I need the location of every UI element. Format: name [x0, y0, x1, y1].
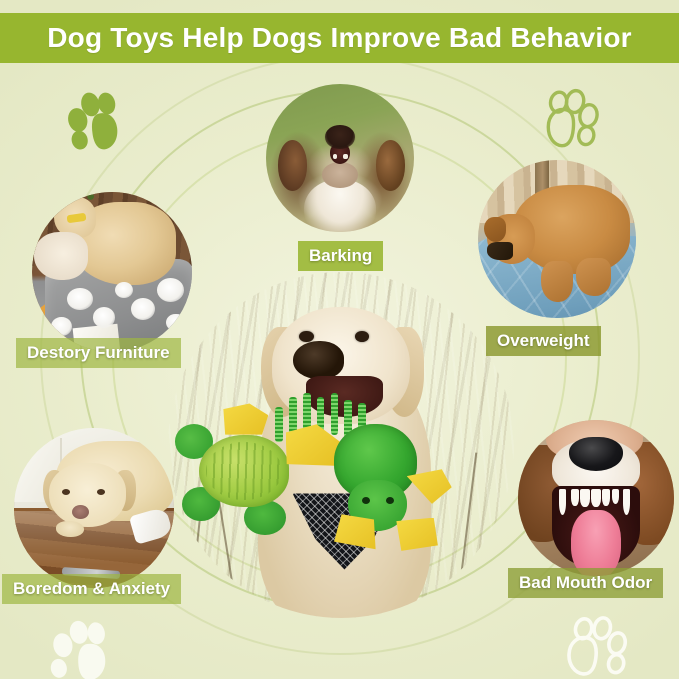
dog-tooth: [591, 489, 600, 508]
bored-labrador-photo: [14, 428, 174, 588]
barking-dog-photo: [266, 84, 414, 232]
paw-print-icon-top-left: [62, 84, 126, 154]
photo-circle-boredom-anxiety: [14, 428, 174, 588]
dog-ear-right: [376, 140, 406, 190]
turtle-toy-rope-coil: [331, 393, 339, 435]
title-banner: Dog Toys Help Dogs Improve Bad Behavior: [0, 13, 679, 63]
stuffing-fluff: [67, 288, 93, 310]
badge-label: Overweight: [497, 331, 590, 351]
badge-label: Destory Furniture: [27, 343, 170, 363]
destroyed-cushion-photo: [32, 192, 192, 352]
badge-barking: Barking: [298, 241, 383, 271]
dog-tooth: [343, 154, 348, 159]
dog-paw: [56, 521, 85, 537]
stuffing-fluff: [93, 307, 115, 328]
dog-ear: [484, 217, 506, 242]
badge-label: Boredom & Anxiety: [13, 579, 170, 599]
photo-circle-overweight: [478, 160, 636, 318]
dog-leg: [541, 261, 573, 302]
photo-circle-barking: [266, 84, 414, 232]
dog-eye-left: [62, 489, 70, 495]
paw-print-icon-bottom-left: [44, 614, 120, 679]
stuffing-fluff: [131, 298, 155, 320]
dog-lower-jaw: [322, 162, 358, 187]
badge-destroy-furniture: Destory Furniture: [16, 338, 181, 368]
turtle-toy-rope-coil: [303, 393, 311, 431]
dog-eye-left: [299, 331, 314, 342]
stuffing-fluff: [51, 317, 72, 336]
photo-circle-bad-mouth-odor: [518, 420, 674, 576]
turtle-toy-rope-coil: [275, 407, 283, 442]
badge-boredom-anxiety: Boredom & Anxiety: [2, 574, 181, 604]
dog-tooth: [602, 489, 610, 506]
dog-nose: [293, 341, 345, 379]
dog-leg: [576, 258, 611, 296]
dog-tongue: [571, 510, 621, 576]
dog-eye-right: [97, 489, 105, 495]
overweight-dog-photo: [478, 160, 636, 318]
dog-tooth: [333, 154, 338, 159]
dog-tooth: [571, 489, 579, 506]
paw-print-icon-bottom-right: [554, 608, 636, 679]
stuffing-fluff: [166, 314, 185, 332]
dog-nose: [325, 125, 355, 149]
stuffing-fluff: [115, 282, 133, 298]
small-dog: [34, 232, 88, 280]
page-title: Dog Toys Help Dogs Improve Bad Behavior: [47, 22, 632, 54]
infographic-canvas: Dog Toys Help Dogs Improve Bad Behavior: [0, 0, 679, 679]
dog-mouth-closeup-photo: [518, 420, 674, 576]
dog-tooth: [580, 489, 589, 508]
dog-snout: [487, 242, 512, 259]
badge-overweight: Overweight: [486, 326, 601, 356]
badge-bad-mouth-odor: Bad Mouth Odor: [508, 568, 663, 598]
badge-label: Barking: [309, 246, 372, 266]
paw-print-icon-top-right: [538, 80, 604, 152]
turtle-toy-left-shell-ribs: [206, 442, 282, 501]
dog-head: [49, 463, 126, 527]
badge-label: Bad Mouth Odor: [519, 573, 652, 593]
center-hero-photo: [168, 272, 514, 618]
dog-eye-right: [355, 331, 370, 342]
dog-ear-left: [278, 140, 308, 190]
photo-circle-destroy-furniture: [32, 192, 192, 352]
